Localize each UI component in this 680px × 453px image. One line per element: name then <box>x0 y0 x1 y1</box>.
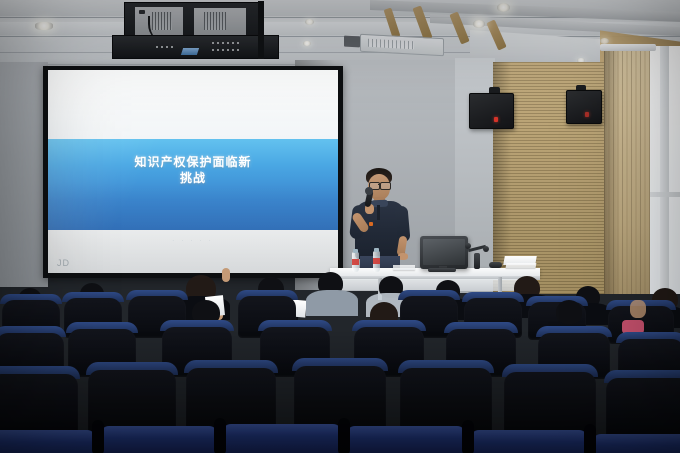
presenter-shirt-logo <box>369 222 373 226</box>
lecture-hall-photo: 知识产权保护面临新 挑战 · · · · · JD <box>0 0 680 453</box>
microphone-head <box>365 187 373 195</box>
slide-subtitle: · · · · · <box>48 238 338 244</box>
ceiling-downlight-4 <box>303 41 311 46</box>
seat-gap-2 <box>214 418 226 453</box>
water-bottle-right-label <box>373 258 380 264</box>
slide-title-line-2: 挑战 <box>48 171 338 186</box>
audience-head-13 <box>556 300 582 324</box>
desk-device <box>489 262 502 268</box>
water-bottle-right-cap <box>374 248 379 252</box>
projection-screen[interactable]: 知识产权保护面临新 挑战 · · · · · JD <box>48 70 338 273</box>
monitor-base <box>428 268 456 272</box>
foreground-seat-highlight-3 <box>222 424 342 436</box>
desk-documents-2 <box>506 263 537 268</box>
presenter-glasses-bridge <box>378 184 380 185</box>
ceiling-downlight-3 <box>305 19 314 25</box>
wall-speaker-left <box>469 93 514 129</box>
camera-rig-body <box>474 253 480 269</box>
wall-speaker-right-led <box>585 112 589 117</box>
window-frame-vertical <box>660 46 669 294</box>
av-mount-arm <box>258 1 264 59</box>
slide-logo: JD <box>57 258 70 268</box>
wall-speaker-left-led <box>494 117 498 122</box>
ac-vent-sensor <box>344 36 360 48</box>
av-indicator-strip <box>181 48 199 55</box>
slide-bottom-area <box>48 230 338 273</box>
projector-rig <box>112 2 277 62</box>
monitor-screen <box>423 239 465 265</box>
desk-papers <box>393 265 415 270</box>
foreground-seat-highlight-1 <box>0 430 96 442</box>
seat-gap-4 <box>462 420 474 453</box>
audience-shoulders-5 <box>306 290 358 316</box>
foreground-seat-highlight-4 <box>346 426 466 438</box>
foreground-seat-highlight-2 <box>100 426 218 438</box>
wall-speaker-right <box>566 90 602 124</box>
audience-face-14 <box>630 300 646 318</box>
seat-gap-3 <box>338 418 350 453</box>
presenter-placket <box>377 205 380 220</box>
slide-title: 知识产权保护面临新 挑战 <box>48 155 338 186</box>
ceiling-downlight-1 <box>497 3 510 12</box>
slide-title-line-1: 知识产权保护面临新 <box>48 155 338 170</box>
water-bottle-left-label <box>352 259 359 265</box>
audience-raised-hand <box>222 268 230 282</box>
av-lens-left <box>139 10 145 14</box>
curtain-rail <box>600 44 656 51</box>
camera-rig-head-left <box>465 243 471 249</box>
camera-rig-head-right <box>483 246 489 252</box>
av-rack-lower <box>112 35 279 59</box>
av-vent-right <box>204 12 226 30</box>
seat-gap-1 <box>92 420 104 453</box>
ceiling-downlight-7 <box>35 22 53 30</box>
curtain-shadow <box>604 48 620 294</box>
seat-gap-5 <box>584 424 596 453</box>
ceiling-downlight-2 <box>473 20 485 28</box>
presenter-glasses-right <box>380 182 391 190</box>
foreground-seat-highlight-5 <box>470 430 588 442</box>
water-bottle-left-cap <box>353 249 358 253</box>
slide-top-area <box>48 70 338 139</box>
wall-left <box>0 62 48 287</box>
foreground-seat-highlight-6 <box>592 434 680 445</box>
